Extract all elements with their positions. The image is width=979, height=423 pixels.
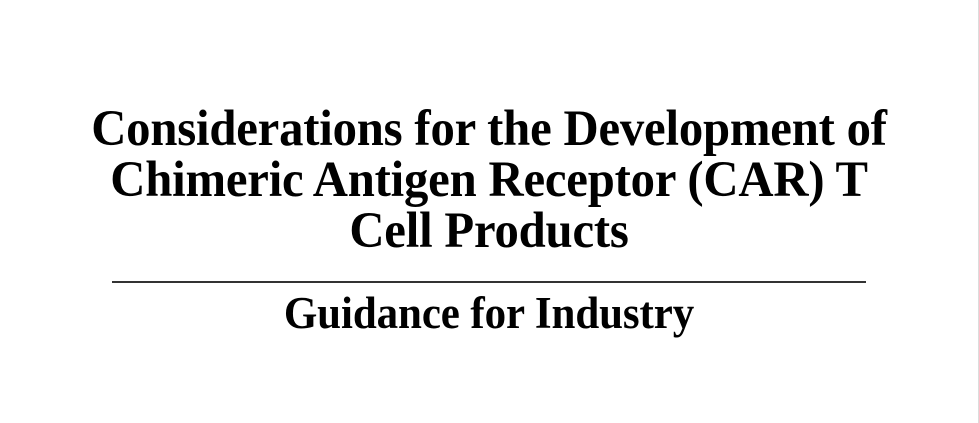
document-subtitle: Guidance for Industry [0,289,978,337]
document-title-page: Considerations for the Development of Ch… [0,0,979,423]
title-line-1: Considerations for the Development of [22,104,956,155]
subtitle-text: Guidance for Industry [22,289,956,337]
title-divider [0,281,978,283]
horizontal-rule [112,281,866,283]
title-line-2: Chimeric Antigen Receptor (CAR) T [22,155,956,206]
document-title: Considerations for the Development of Ch… [0,104,978,257]
title-line-3: Cell Products [22,206,956,257]
